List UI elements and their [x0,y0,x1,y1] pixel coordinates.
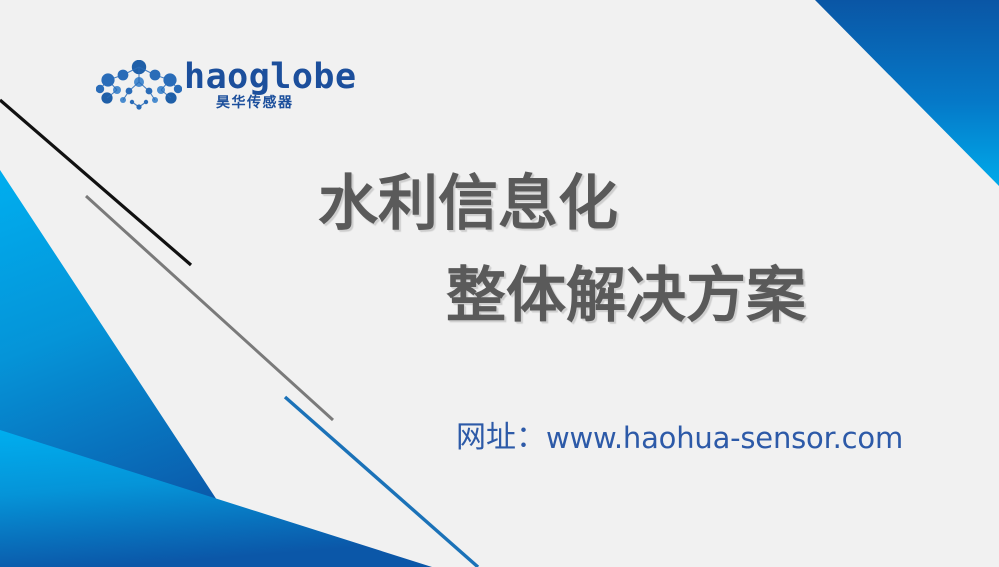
website-url[interactable]: www.haohua-sensor.com [546,421,903,455]
page-title: 水利信息化 整体解决方案 [0,160,999,360]
presentation-title-slide: haoglobe 昊华传感器 水利信息化 整体解决方案 网址：www.haohu… [0,0,999,567]
website-label: 网址： [456,420,546,455]
company-logo: haoglobe 昊华传感器 [96,58,326,120]
title-line-1: 水利信息化 [318,168,618,240]
title-line-2: 整体解决方案 [446,260,806,332]
logo-wordmark-block: haoglobe 昊华传感器 [184,58,324,120]
website-line: 网址：www.haohua-sensor.com [456,418,903,458]
molecule-network-logo-icon [96,60,182,112]
logo-wordmark-text: haoglobe [184,58,357,96]
logo-chinese-name: 昊华传感器 [216,95,294,111]
